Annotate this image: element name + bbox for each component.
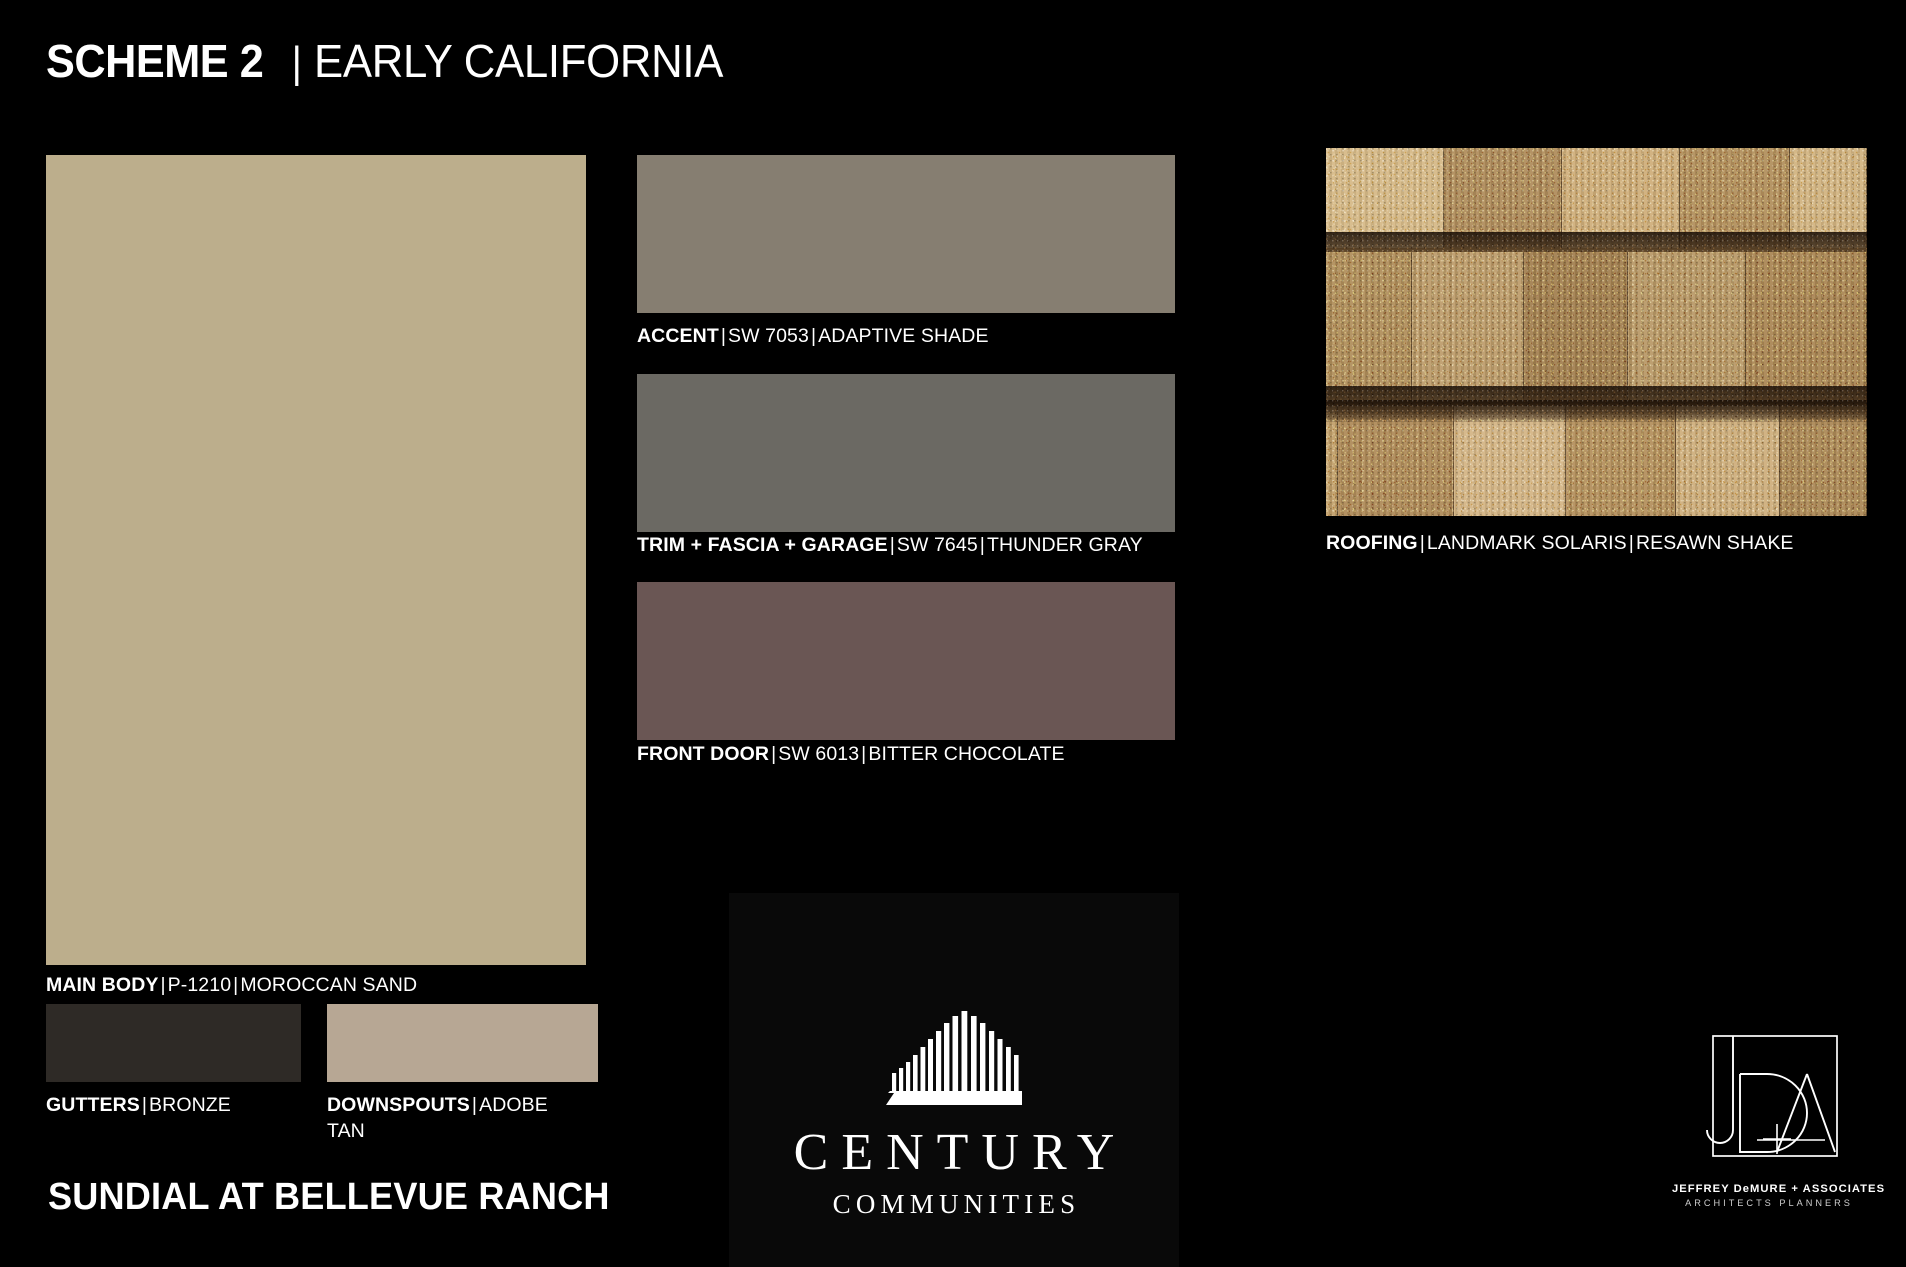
- caption-roofing-name: RESAWN SHAKE: [1636, 532, 1794, 554]
- caption-main-body-category: MAIN BODY: [46, 974, 158, 996]
- caption-front-door-category: FRONT DOOR: [637, 743, 769, 765]
- caption-front-door-name: BITTER CHOCOLATE: [868, 743, 1064, 765]
- caption-gutters: GUTTERS|BRONZE: [46, 1093, 231, 1119]
- swatch-downspouts: [327, 1004, 598, 1082]
- caption-main-body-code: P-1210: [168, 974, 231, 996]
- swatch-gutters: [46, 1004, 301, 1082]
- scheme-number-label: SCHEME 2: [46, 34, 263, 88]
- caption-accent-name: ADAPTIVE SHADE: [818, 325, 988, 347]
- title-separator: |: [292, 38, 302, 88]
- caption-downspouts: DOWNSPOUTS|ADOBE TAN: [327, 1093, 577, 1144]
- scheme-name-label: EARLY CALIFORNIA: [314, 34, 723, 88]
- caption-separator: |: [978, 534, 987, 556]
- caption-front-door: FRONT DOOR|SW 6013|BITTER CHOCOLATE: [637, 742, 1065, 768]
- caption-separator: |: [888, 534, 897, 556]
- caption-gutters-category: GUTTERS: [46, 1094, 140, 1116]
- caption-separator: |: [859, 743, 868, 765]
- caption-trim-name: THUNDER GRAY: [987, 534, 1143, 556]
- caption-separator: |: [470, 1094, 479, 1116]
- builder-logo-name: CENTURY: [781, 1127, 1128, 1179]
- jda-monogram-icon: [1685, 1028, 1853, 1178]
- caption-trim-code: SW 7645: [897, 534, 978, 556]
- caption-main-body-name: MOROCCAN SAND: [240, 974, 417, 996]
- roofing-granule-texture-fine: [1326, 148, 1867, 516]
- architect-firm-name: JEFFREY DeMURE + ASSOCIATES: [1672, 1183, 1866, 1195]
- swatch-roofing: [1326, 148, 1867, 516]
- architect-discipline: ARCHITECTS PLANNERS: [1672, 1198, 1866, 1208]
- architect-logo: JEFFREY DeMURE + ASSOCIATES ARCHITECTS P…: [1672, 1028, 1866, 1233]
- caption-roofing-category: ROOFING: [1326, 532, 1418, 554]
- caption-roofing-code: LANDMARK SOLARIS: [1427, 532, 1627, 554]
- caption-separator: |: [158, 974, 167, 996]
- caption-accent: ACCENT|SW 7053|ADAPTIVE SHADE: [637, 324, 989, 350]
- century-building-icon: [886, 1011, 1022, 1105]
- caption-trim-fascia-garage: TRIM + FASCIA + GARAGE|SW 7645|THUNDER G…: [637, 533, 1143, 559]
- swatch-main-body: [46, 155, 586, 965]
- caption-separator: |: [140, 1094, 149, 1116]
- caption-separator: |: [809, 325, 818, 347]
- caption-separator: |: [1418, 532, 1427, 554]
- swatch-front-door: [637, 582, 1175, 740]
- caption-separator: |: [769, 743, 778, 765]
- project-name: SUNDIAL AT BELLEVUE RANCH: [48, 1176, 610, 1219]
- caption-separator: |: [719, 325, 728, 347]
- swatch-accent: [637, 155, 1175, 313]
- caption-roofing: ROOFING|LANDMARK SOLARIS|RESAWN SHAKE: [1326, 531, 1794, 557]
- caption-downspouts-category: DOWNSPOUTS: [327, 1094, 470, 1116]
- caption-accent-code: SW 7053: [728, 325, 809, 347]
- caption-front-door-code: SW 6013: [778, 743, 859, 765]
- color-scheme-board: SCHEME 2 | EARLY CALIFORNIA MAIN BODY|P-…: [0, 0, 1906, 1267]
- roofing-texture: [1326, 148, 1867, 516]
- caption-gutters-code: BRONZE: [149, 1094, 231, 1116]
- builder-logo: CENTURY COMMUNITIES: [729, 893, 1179, 1267]
- caption-main-body: MAIN BODY|P-1210|MOROCCAN SAND: [46, 973, 417, 999]
- caption-trim-category: TRIM + FASCIA + GARAGE: [637, 534, 888, 556]
- caption-accent-category: ACCENT: [637, 325, 719, 347]
- builder-logo-subtitle: COMMUNITIES: [828, 1191, 1081, 1218]
- page-title: SCHEME 2 | EARLY CALIFORNIA: [46, 34, 744, 88]
- swatch-trim-fascia-garage: [637, 374, 1175, 532]
- caption-separator: |: [1627, 532, 1636, 554]
- caption-separator: |: [231, 974, 240, 996]
